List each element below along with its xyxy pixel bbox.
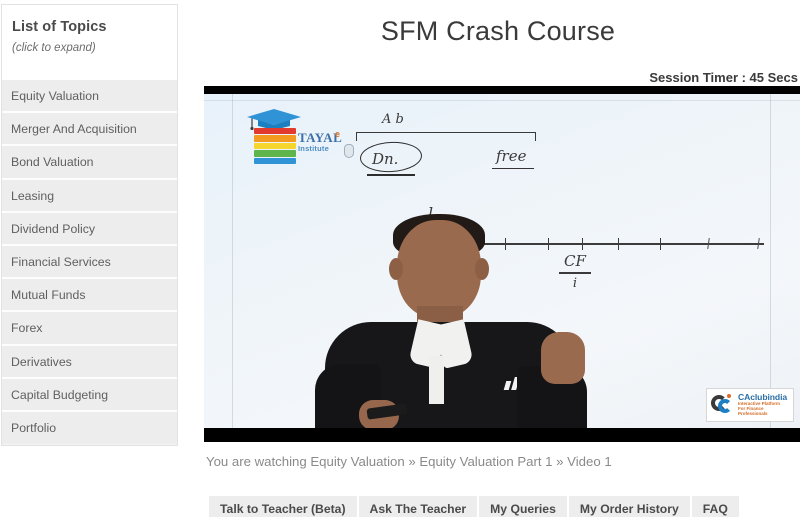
instructor-head (397, 220, 481, 318)
tab-ask-the-teacher[interactable]: Ask The Teacher (359, 496, 480, 517)
bottom-tab-bar: Talk to Teacher (Beta) Ask The Teacher M… (209, 496, 741, 517)
tayal-institute-logo: TAYAL e Institute (240, 108, 340, 164)
sidebar-item-mutual-funds[interactable]: Mutual Funds (2, 279, 177, 312)
page-title: SFM Crash Course (196, 16, 800, 47)
course-player-page: List of Topics (click to expand) Equity … (0, 0, 800, 517)
logo-brand-sub: Institute (298, 144, 329, 153)
mouse-icon (344, 144, 354, 158)
whiteboard-term-free: free (496, 147, 526, 165)
sidebar-item-capital-budgeting[interactable]: Capital Budgeting (2, 379, 177, 412)
logo-superscript-e: e (335, 129, 340, 139)
instructor-ear (475, 258, 489, 280)
topic-list: Equity Valuation Merger And Acquisition … (1, 80, 178, 446)
video-frame: TAYAL e Institute A b Dn. free l (204, 94, 800, 428)
whiteboard-frame-line (770, 94, 771, 428)
sidebar-item-merger-and-acquisition[interactable]: Merger And Acquisition (2, 113, 177, 146)
topics-sidebar: List of Topics (click to expand) Equity … (1, 4, 178, 446)
sidebar-item-dividend-policy[interactable]: Dividend Policy (2, 213, 177, 246)
whiteboard-bracket (356, 132, 536, 141)
sidebar-item-financial-services[interactable]: Financial Services (2, 246, 177, 279)
caclubindia-watermark: CAclubindia Interactive Platform For Fin… (706, 388, 794, 422)
video-player[interactable]: TAYAL e Institute A b Dn. free l (204, 86, 800, 442)
sidebar-item-equity-valuation[interactable]: Equity Valuation (2, 80, 177, 113)
whiteboard-note-ab: A b (382, 112, 404, 127)
sidebar-item-bond-valuation[interactable]: Bond Valuation (2, 146, 177, 179)
sidebar-subtitle: (click to expand) (12, 42, 167, 54)
whiteboard-underline (492, 168, 534, 169)
instructor-ear (389, 258, 403, 280)
sidebar-header: List of Topics (click to expand) (1, 4, 178, 80)
sidebar-item-forex[interactable]: Forex (2, 312, 177, 345)
caclubindia-logo-icon (711, 394, 735, 416)
whiteboard-circled-term: Dn. (372, 150, 398, 168)
books-stack-icon (254, 128, 296, 164)
tab-faq[interactable]: FAQ (692, 496, 741, 517)
session-timer: Session Timer : 45 Secs (649, 70, 798, 85)
sidebar-item-portfolio[interactable]: Portfolio (2, 412, 177, 445)
sidebar-item-leasing[interactable]: Leasing (2, 180, 177, 213)
instructor-placket (429, 356, 444, 404)
instructor-hand (541, 332, 585, 384)
whiteboard-underline (367, 174, 415, 176)
sidebar-title: List of Topics (12, 19, 167, 35)
watermark-tagline-2: For Finance Professionals (738, 407, 789, 416)
tab-my-order-history[interactable]: My Order History (569, 496, 692, 517)
breadcrumb: You are watching Equity Valuation » Equi… (206, 454, 612, 469)
tab-my-queries[interactable]: My Queries (479, 496, 569, 517)
instructor-figure (309, 214, 609, 428)
whiteboard-frame-line (232, 94, 233, 428)
tab-talk-to-teacher[interactable]: Talk to Teacher (Beta) (209, 496, 359, 517)
graduation-cap-icon (246, 108, 302, 130)
whiteboard-frame-line (204, 100, 800, 101)
sidebar-item-derivatives[interactable]: Derivatives (2, 346, 177, 379)
